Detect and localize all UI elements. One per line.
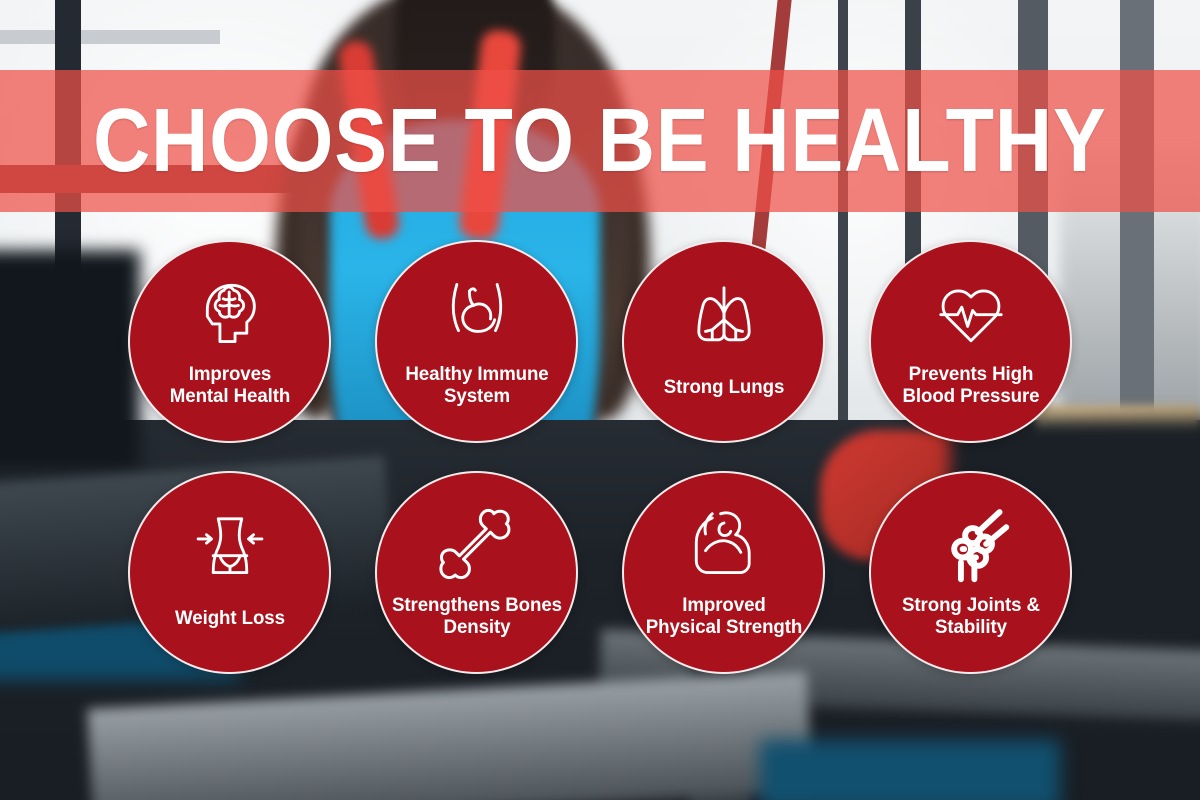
- lungs-icon: [682, 276, 766, 360]
- benefit-label-line2: System: [390, 385, 563, 407]
- benefit-card-weight-loss[interactable]: Weight Loss: [128, 471, 331, 674]
- page-title: CHOOSE TO BE HEALTHY: [93, 93, 1107, 189]
- waist-arrows-icon: [188, 507, 272, 591]
- benefit-card-bone-density[interactable]: Strengthens Bones Density: [375, 471, 578, 674]
- benefit-label-line2: Stability: [884, 616, 1057, 638]
- benefit-label: Improves Mental Health: [143, 363, 316, 407]
- title-banner: CHOOSE TO BE HEALTHY: [0, 70, 1200, 212]
- head-brain-icon: [188, 271, 272, 355]
- benefit-label-line2: Physical Strength: [637, 616, 810, 638]
- benefit-label: Strong Lungs: [637, 376, 810, 398]
- knee-joint-icon: [929, 502, 1013, 586]
- benefit-label: Strong Joints & Stability: [884, 594, 1057, 638]
- benefit-label: Prevents High Blood Pressure: [884, 363, 1057, 407]
- benefit-label-line1: Strong Lungs: [637, 376, 810, 398]
- benefit-card-strong-lungs[interactable]: Strong Lungs: [622, 240, 825, 443]
- benefits-grid: Improves Mental Health Healthy Immune: [0, 240, 1200, 674]
- benefit-label: Strengthens Bones Density: [390, 594, 563, 638]
- benefit-label-line1: Strong Joints &: [884, 594, 1057, 616]
- benefit-label-line1: Improved: [637, 594, 810, 616]
- benefit-label-line2: Density: [390, 616, 563, 638]
- benefit-card-joints-stability[interactable]: Strong Joints & Stability: [869, 471, 1072, 674]
- stomach-icon: [435, 271, 519, 355]
- bone-icon: [435, 502, 519, 586]
- benefit-card-mental-health[interactable]: Improves Mental Health: [128, 240, 331, 443]
- benefit-label-line1: Improves: [143, 363, 316, 385]
- benefit-label-line1: Weight Loss: [143, 607, 316, 629]
- benefit-card-blood-pressure[interactable]: Prevents High Blood Pressure: [869, 240, 1072, 443]
- infographic-poster: CHOOSE TO BE HEALTHY Improves Mental Hea…: [0, 0, 1200, 800]
- benefit-label: Weight Loss: [143, 607, 316, 629]
- benefit-label-line1: Strengthens Bones: [390, 594, 563, 616]
- benefit-label-line1: Prevents High: [884, 363, 1057, 385]
- blue-floor-mat-right: [760, 740, 1060, 800]
- benefits-row-bottom: Weight Loss Strengthens Bones Density: [128, 471, 1072, 674]
- benefit-card-physical-strength[interactable]: Improved Physical Strength: [622, 471, 825, 674]
- benefit-label-line2: Blood Pressure: [884, 385, 1057, 407]
- benefit-card-immune-system[interactable]: Healthy Immune System: [375, 240, 578, 443]
- benefit-label-line1: Healthy Immune: [390, 363, 563, 385]
- benefit-label: Healthy Immune System: [390, 363, 563, 407]
- window-frame-horizontal-top: [0, 30, 220, 44]
- flexed-bicep-icon: [682, 502, 766, 586]
- heart-pulse-icon: [929, 271, 1013, 355]
- benefits-row-top: Improves Mental Health Healthy Immune: [128, 240, 1072, 443]
- benefit-label-line2: Mental Health: [143, 385, 316, 407]
- benefit-label: Improved Physical Strength: [637, 594, 810, 638]
